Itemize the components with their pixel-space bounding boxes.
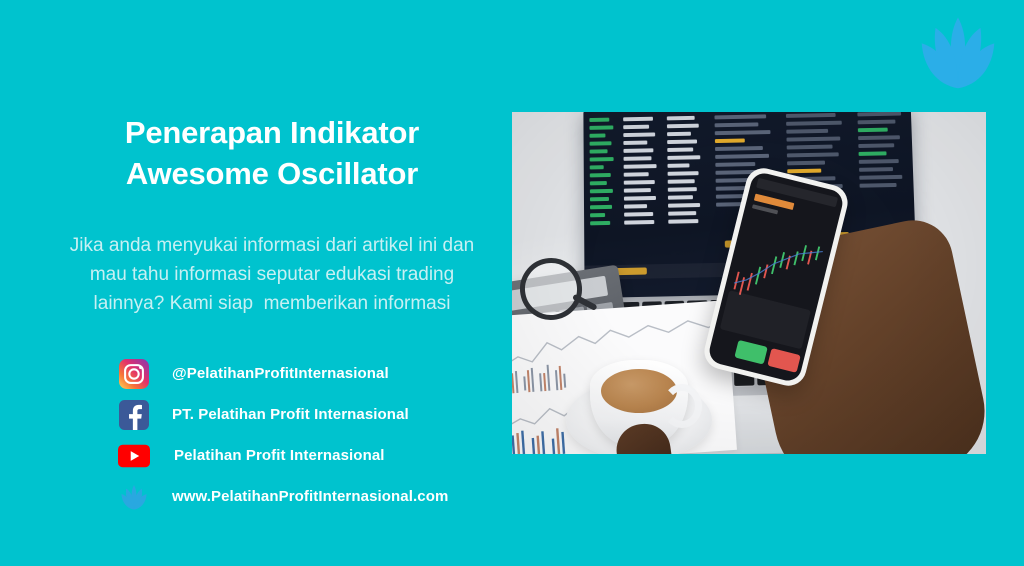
lotus-leaf-logo-icon bbox=[914, 14, 1002, 90]
lotus-leaf-logo-icon-small bbox=[118, 481, 150, 513]
social-label-website: www.PelatihanProfitInternasional.com bbox=[172, 488, 448, 505]
social-label-facebook: PT. Pelatihan Profit Internasional bbox=[172, 406, 409, 423]
page-title: Penerapan Indikator Awesome Oscillator bbox=[48, 112, 496, 194]
social-row-youtube[interactable]: Pelatihan Profit Internasional bbox=[118, 435, 518, 476]
trading-photo bbox=[512, 112, 986, 454]
social-contact-list: @PelatihanProfitInternasional PT. Pelati… bbox=[118, 353, 518, 517]
text-column: Penerapan Indikator Awesome Oscillator J… bbox=[48, 112, 496, 319]
social-row-website[interactable]: www.PelatihanProfitInternasional.com bbox=[118, 476, 518, 517]
cup-handle bbox=[662, 384, 702, 428]
promo-banner: Penerapan Indikator Awesome Oscillator J… bbox=[0, 0, 1024, 566]
youtube-icon bbox=[118, 440, 150, 472]
facebook-icon bbox=[118, 399, 150, 431]
instagram-icon bbox=[118, 358, 150, 390]
social-label-instagram: @PelatihanProfitInternasional bbox=[172, 365, 389, 382]
social-row-facebook[interactable]: PT. Pelatihan Profit Internasional bbox=[118, 394, 518, 435]
subtitle-text: Jika anda menyukai informasi dari artike… bbox=[48, 232, 496, 319]
social-row-instagram[interactable]: @PelatihanProfitInternasional bbox=[118, 353, 518, 394]
social-label-youtube: Pelatihan Profit Internasional bbox=[174, 447, 385, 464]
